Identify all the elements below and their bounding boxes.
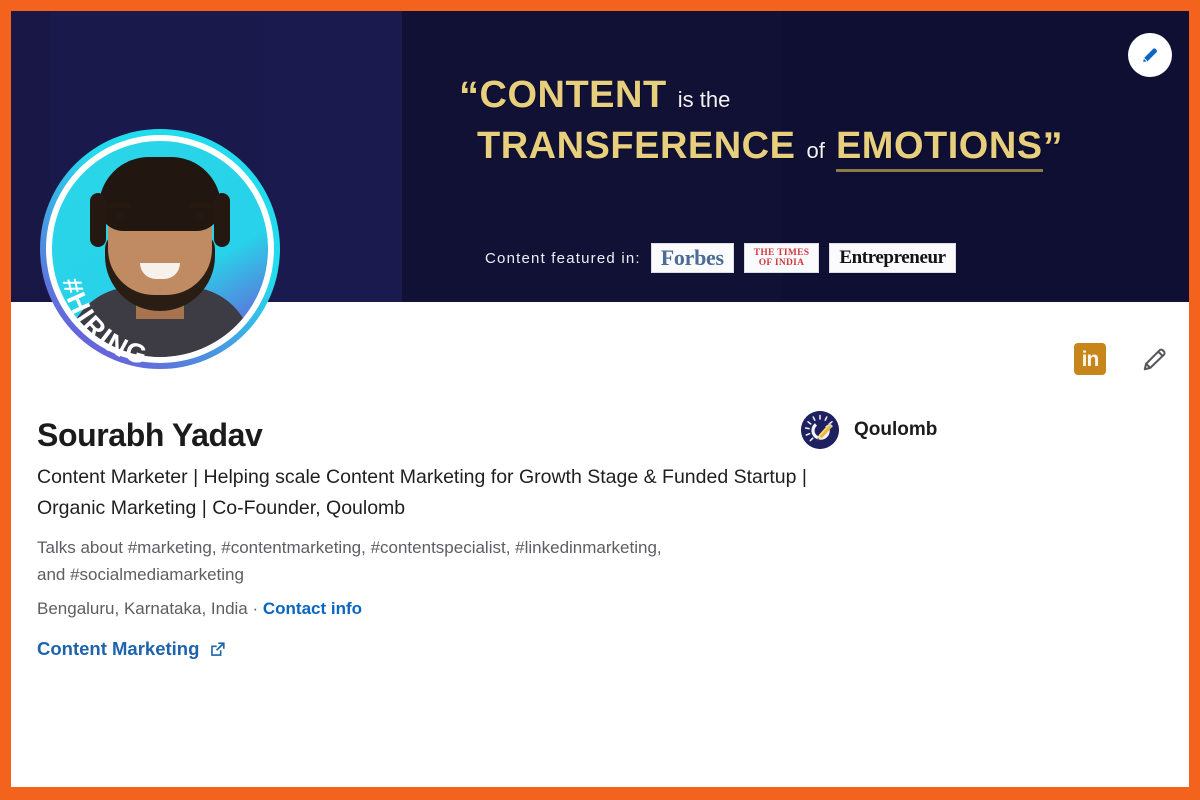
linkedin-icon[interactable]: in [1074,343,1106,375]
current-company[interactable]: Qoulomb [801,411,937,449]
times-of-india-logo: THE TIMES OF INDIA [744,243,820,273]
svg-text:#HIRING: #HIRING [57,275,153,369]
page-title: Sourabh Yadav [37,417,262,454]
entrepreneur-logo: Entrepreneur [829,243,955,273]
company-name: Qoulomb [854,419,937,441]
quote-line1-bold: CONTENT [480,74,667,116]
quote-line2-bold1: TRANSFERENCE [477,125,795,167]
hiring-label: #HIRING [57,275,153,369]
featured-in-row: Content featured in: Forbes THE TIMES OF… [485,243,956,273]
quote-line1-plain: is the [678,87,731,112]
external-link-icon [208,640,227,659]
edit-banner-button[interactable] [1128,33,1172,77]
banner-quote: “CONTENT is the TRANSFERENCE of EMOTIONS… [451,73,1171,175]
forbes-logo: Forbes [651,243,734,273]
location-text: Bengaluru, Karnataka, India [37,599,248,618]
contact-info-link[interactable]: Contact info [263,599,362,618]
hiring-badge-text: #HIRING [40,129,280,369]
pencil-icon [1139,44,1161,66]
quote-line2-plain: of [807,138,825,163]
quote-line2-bold2: EMOTIONS [836,125,1043,172]
avatar[interactable]: #HIRING [40,129,280,369]
profile-actions: in [1074,342,1172,376]
profile-body: in Sourabh Yadav Content Marketer | Help… [11,302,1189,787]
banner-stripe-3 [263,11,402,302]
featured-link-label: Content Marketing [37,638,199,660]
pencil-icon [1140,344,1170,374]
orange-frame: “CONTENT is the TRANSFERENCE of EMOTIONS… [0,0,1200,800]
profile-card: “CONTENT is the TRANSFERENCE of EMOTIONS… [11,11,1189,787]
edit-profile-button[interactable] [1138,342,1172,376]
quote-close-mark: ” [1043,125,1064,169]
featured-in-label: Content featured in: [485,250,641,267]
talks-about-text: Talks about #marketing, #contentmarketin… [37,534,687,588]
featured-link[interactable]: Content Marketing [37,638,227,660]
qoulomb-gauge-pencil-logo [801,411,839,449]
quote-open-mark: “ [459,74,480,118]
profile-headline: Content Marketer | Helping scale Content… [37,462,807,524]
location-separator: · [248,599,263,618]
location-row: Bengaluru, Karnataka, India · Contact in… [37,599,362,619]
